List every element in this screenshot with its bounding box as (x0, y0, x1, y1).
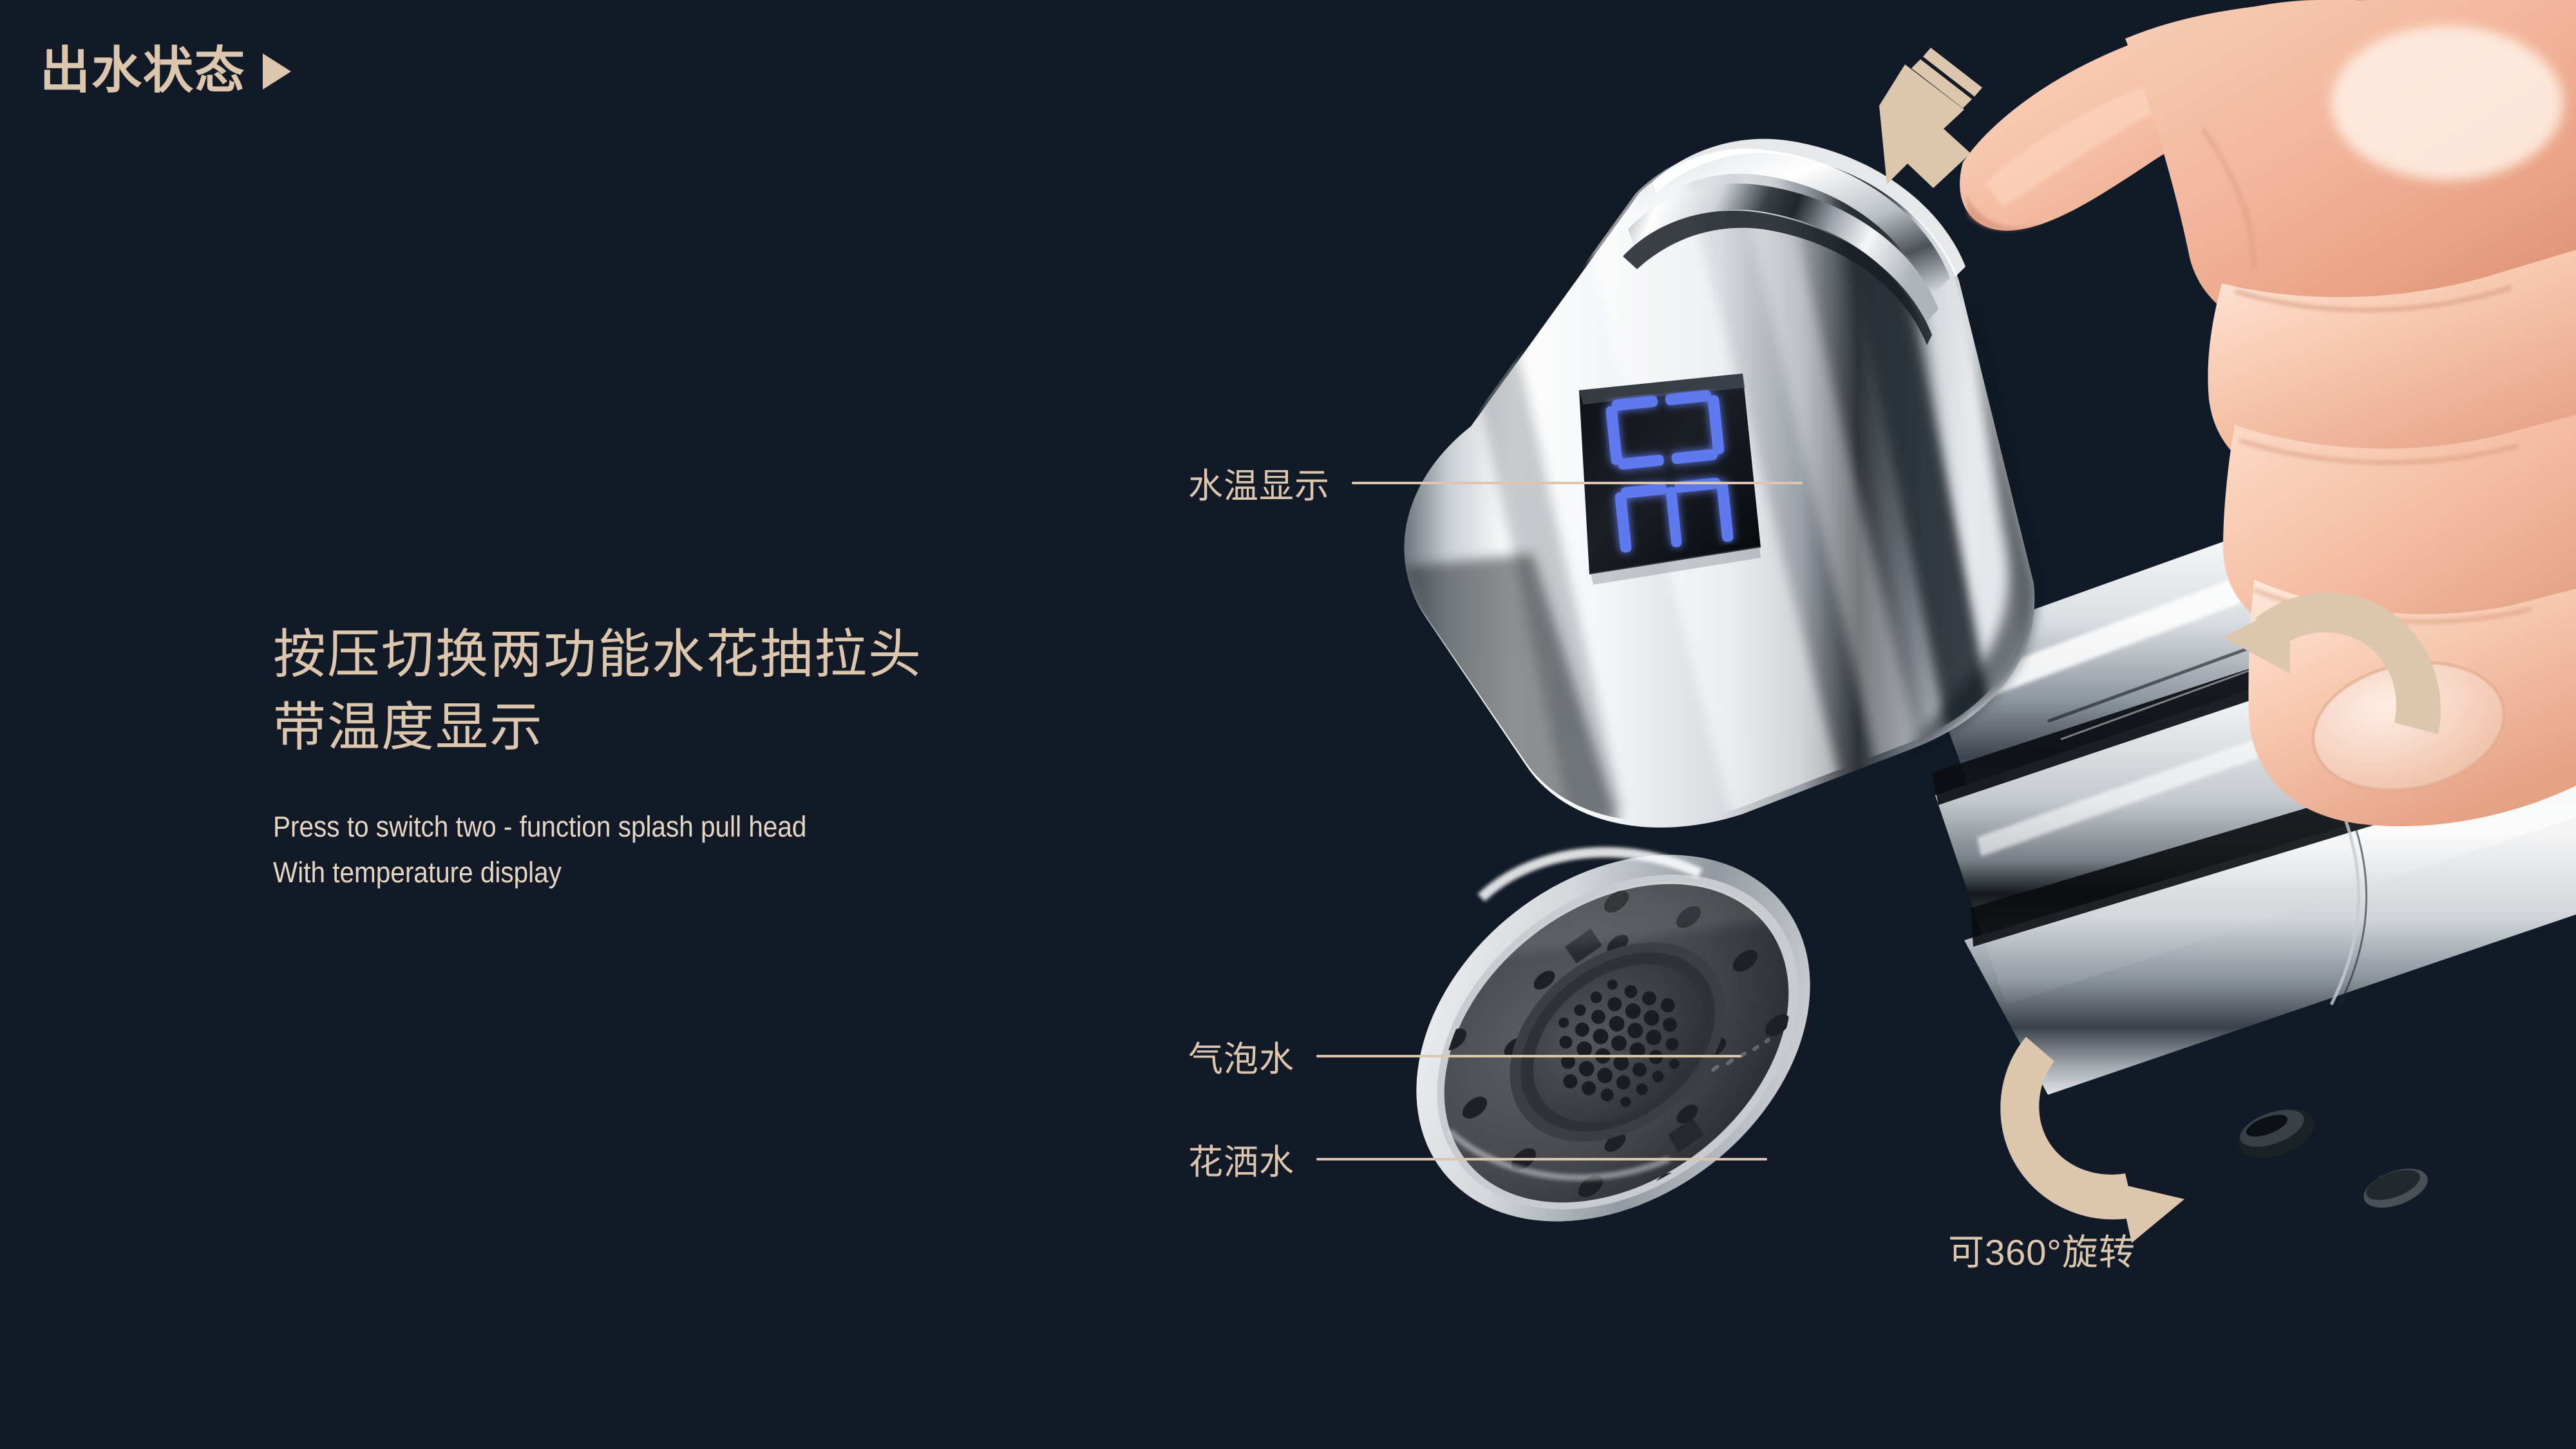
callout-shower-water-label: 花洒水 (1188, 1133, 1294, 1184)
rotation-note-label: 可360°旋转 (1948, 1224, 2136, 1276)
headline: 按压切换两功能水花抽拉头 带温度显示 (273, 618, 922, 764)
callout-shower-water: 花洒水 (1188, 1133, 1767, 1184)
arm-button-lower (2358, 1161, 2433, 1215)
section-title: 出水状态 (40, 45, 291, 95)
subcopy-line-1: Press to switch two - function splash pu… (273, 804, 806, 849)
leader-line (1352, 482, 1803, 484)
leader-line (1316, 1158, 1767, 1160)
slide-canvas: 出水状态 按压切换两功能水花抽拉头 带温度显示 Press to switch … (0, 0, 2576, 1449)
headline-line-2: 带温度显示 (273, 691, 922, 764)
callout-aerated-water: 气泡水 (1188, 1030, 1741, 1081)
callout-temperature-display-label: 水温显示 (1188, 457, 1330, 508)
subcopy-line-2: With temperature display (273, 849, 806, 895)
arm-button-upper (2231, 1100, 2321, 1167)
callout-temperature-display: 水温显示 (1188, 457, 1803, 508)
subcopy: Press to switch two - function splash pu… (273, 804, 866, 895)
leader-line (1316, 1055, 1741, 1057)
play-triangle-icon (263, 53, 291, 90)
callout-aerated-water-label: 气泡水 (1188, 1030, 1294, 1081)
headline-line-1: 按压切换两功能水花抽拉头 (273, 618, 922, 691)
faucet-spray-head (1345, 139, 2045, 1298)
section-title-text: 出水状态 (40, 45, 246, 95)
